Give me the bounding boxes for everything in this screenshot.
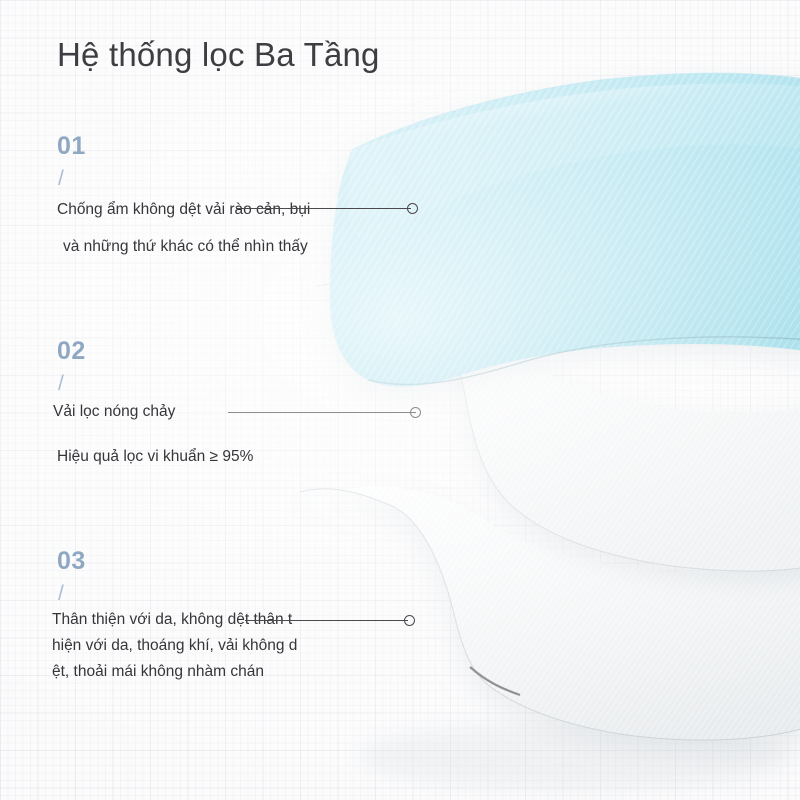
product-infographic: Hệ thống lọc Ba Tầng 01 / Chống ẩm không…: [0, 0, 800, 800]
leader-dot-02: [410, 407, 421, 418]
leader-dot-03: [404, 615, 415, 626]
feature-text-03-line-3: ệt, thoải mái không nhàm chán: [52, 664, 264, 680]
leader-dot-01: [407, 203, 418, 214]
feature-text-01-line-1: Chống ẩm không dệt vải rào cản, bụi: [57, 202, 310, 218]
feature-number-01: 01: [57, 134, 86, 159]
outer-blue-layer: [330, 73, 800, 386]
feature-number-03: 03: [57, 549, 86, 574]
page-title: Hệ thống lọc Ba Tầng: [57, 36, 380, 74]
feature-slash-03: /: [58, 583, 64, 604]
mask-layers-illustration: [0, 0, 800, 800]
leader-line-02: [228, 412, 416, 413]
feature-number-02: 02: [57, 339, 86, 364]
feature-text-03-line-2: hiện với da, thoáng khí, vải không d: [52, 638, 297, 654]
feature-slash-01: /: [58, 168, 64, 189]
feature-text-01-line-2: và những thứ khác có thể nhìn thấy: [63, 239, 308, 255]
leader-line-01: [236, 208, 411, 209]
feature-slash-02: /: [58, 373, 64, 394]
feature-text-02-line-2: Hiệu quả lọc vi khuẩn ≥ 95%: [57, 449, 253, 465]
feature-text-02-line-1: Vải lọc nóng chảy: [53, 404, 175, 420]
leader-line-03: [245, 620, 408, 621]
